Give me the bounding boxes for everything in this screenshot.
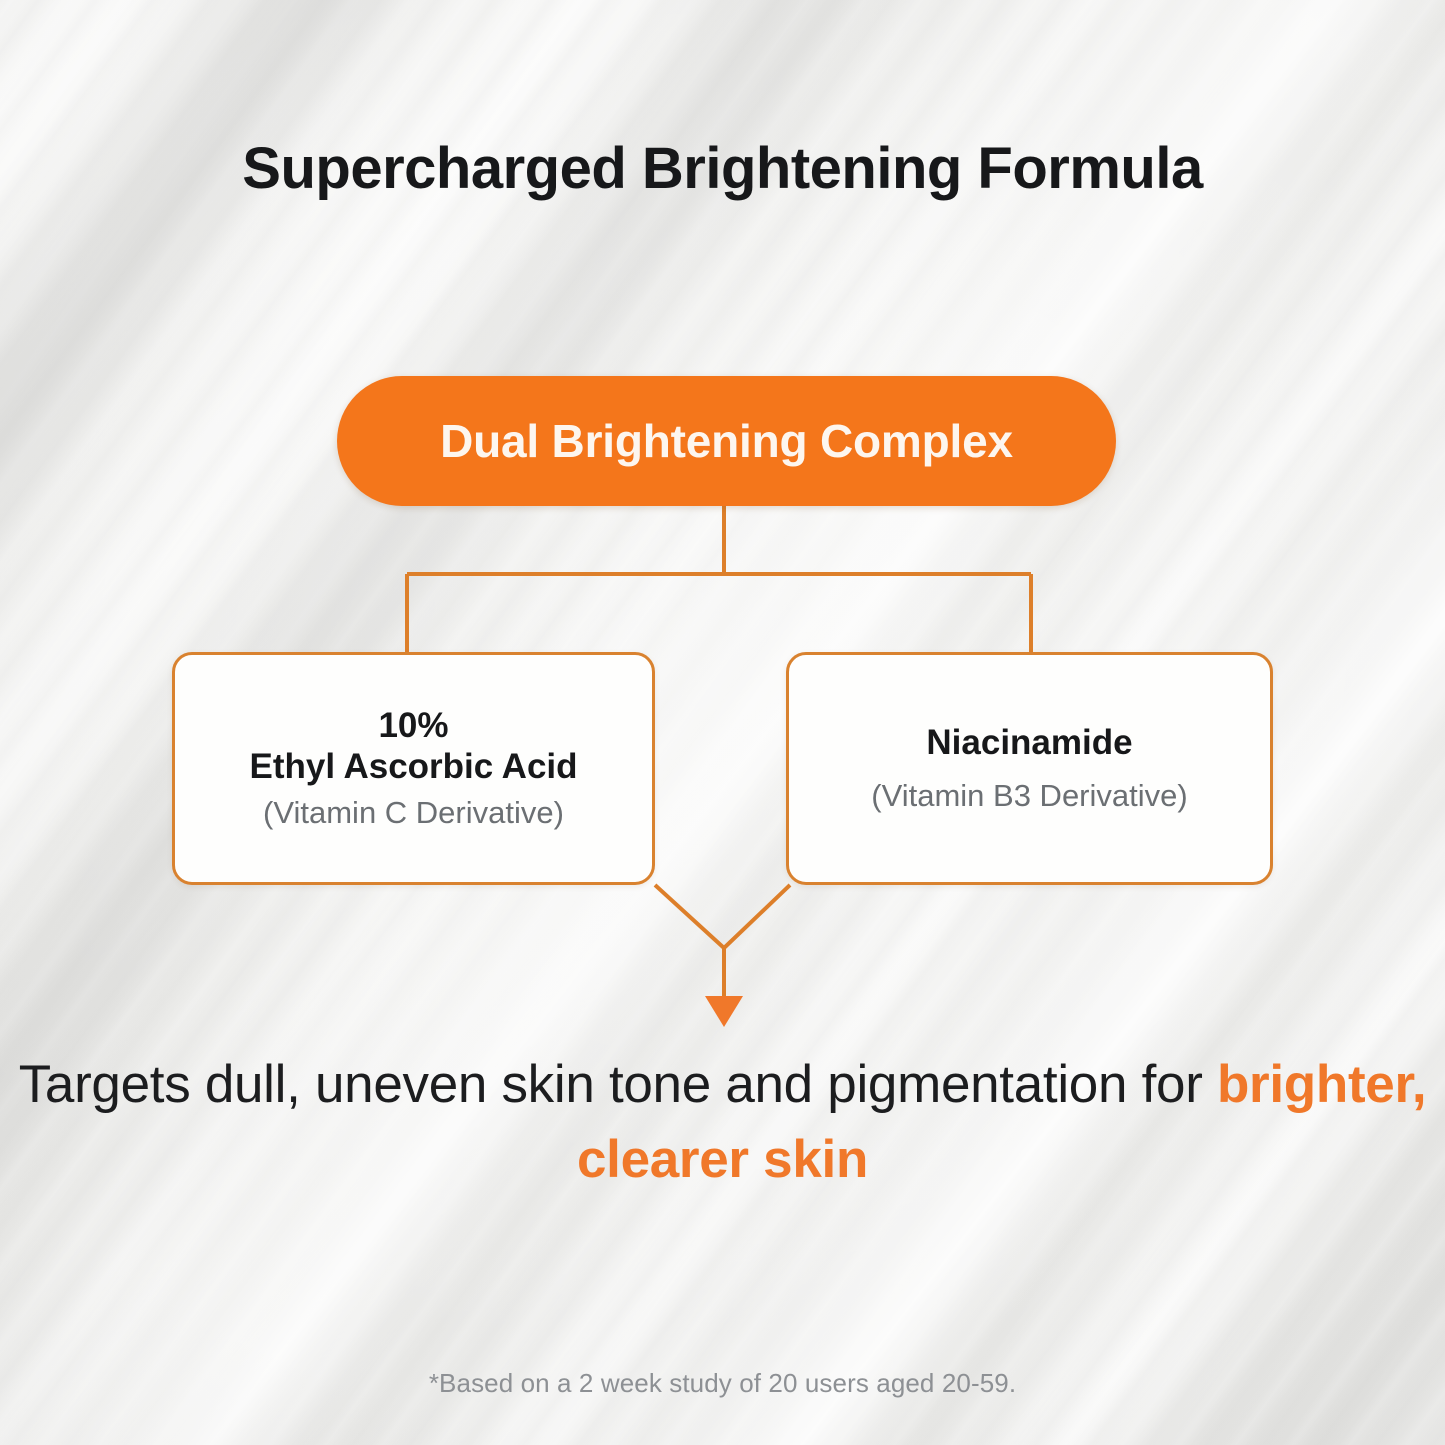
ingredient-name: Niacinamide (926, 723, 1132, 764)
ingredient-subtitle: (Vitamin C Derivative) (263, 795, 564, 831)
connector-merge-left (655, 885, 724, 948)
dual-brightening-complex-node: Dual Brightening Complex (337, 376, 1116, 506)
ingredient-percent: 10% (378, 706, 448, 747)
ingredient-card-ethyl-ascorbic-acid: 10% Ethyl Ascorbic Acid (Vitamin C Deriv… (172, 652, 655, 885)
benefit-claim: Targets dull, uneven skin tone and pigme… (0, 1047, 1445, 1198)
complex-label: Dual Brightening Complex (440, 414, 1013, 468)
arrow-down-icon (705, 996, 743, 1027)
infographic-canvas: Supercharged Brightening Formula Dual Br… (0, 0, 1445, 1445)
benefit-claim-lead: Targets dull, uneven skin tone and pigme… (19, 1055, 1217, 1114)
connector-merge-right (724, 885, 790, 948)
study-footnote: *Based on a 2 week study of 20 users age… (0, 1368, 1445, 1399)
ingredient-subtitle: (Vitamin B3 Derivative) (871, 778, 1187, 814)
ingredient-card-niacinamide: Niacinamide (Vitamin B3 Derivative) (786, 652, 1273, 885)
ingredient-name: Ethyl Ascorbic Acid (249, 747, 577, 788)
